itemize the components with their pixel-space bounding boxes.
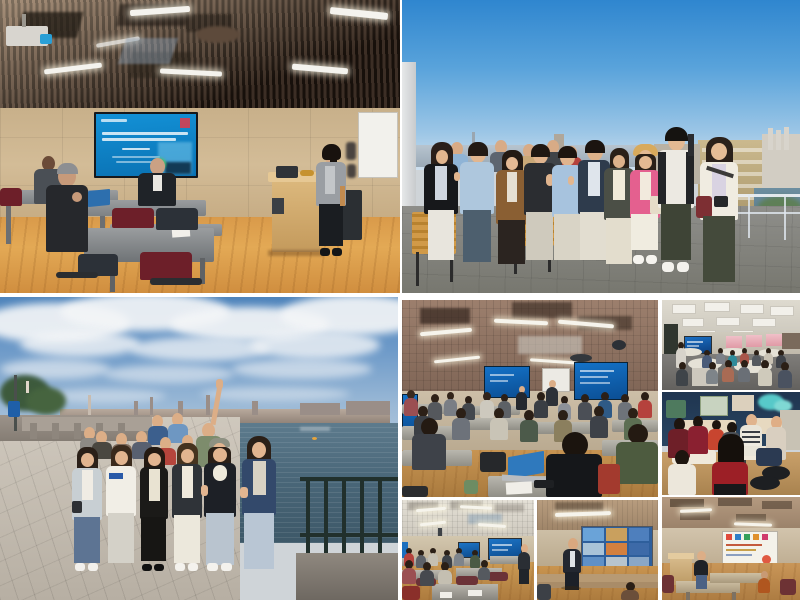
panel-workshop-tables (662, 300, 800, 390)
panel-waterfront-group (0, 297, 398, 600)
panel-speaker-collage-slide (537, 500, 658, 600)
panel-hall-wide (402, 500, 534, 600)
panel-classroom-talk (662, 497, 800, 600)
photo-collage (0, 0, 800, 600)
panel-rooftop-group (402, 0, 800, 293)
panel-seminar-room (0, 0, 400, 293)
panel-lecture-audience (402, 300, 658, 497)
panel-cafe-lounge (662, 392, 800, 495)
